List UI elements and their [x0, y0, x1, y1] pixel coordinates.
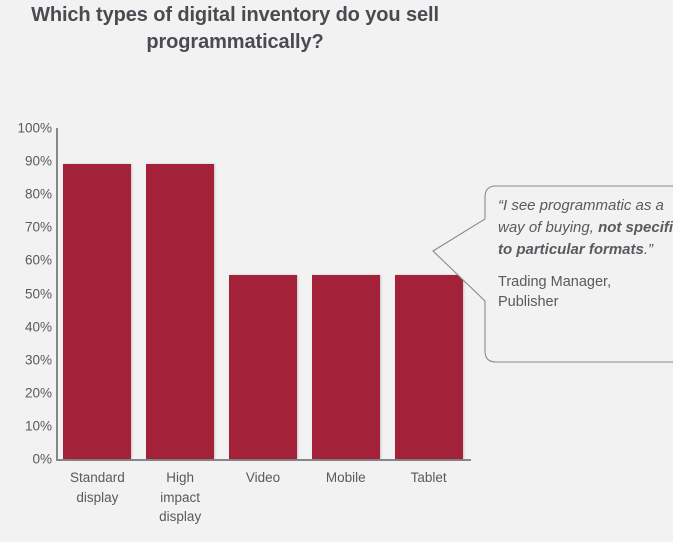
bar-high-impact-display[interactable]	[146, 164, 214, 459]
x-axis-category-labels: StandarddisplayHighimpactdisplayVideoMob…	[56, 468, 471, 542]
x-axis-label-high-impact-display: Highimpactdisplay	[138, 468, 222, 527]
y-axis-tick-label: 40%	[4, 319, 52, 334]
plot-area	[56, 128, 470, 459]
y-axis-tick-label: 100%	[4, 121, 52, 136]
quote-attribution: Trading Manager, Publisher	[498, 272, 673, 313]
y-axis-tick-label: 0%	[4, 452, 52, 467]
x-axis-label-line: Standard	[55, 468, 139, 488]
attribution-line-1: Trading Manager,	[498, 272, 673, 293]
attribution-line-2: Publisher	[498, 292, 673, 313]
y-axis-tick-label: 60%	[4, 253, 52, 268]
x-axis-label-line: High	[138, 468, 222, 488]
bar-video[interactable]	[229, 275, 297, 459]
x-axis-line	[56, 459, 471, 461]
x-axis-label-tablet: Tablet	[387, 468, 471, 488]
x-axis-label-mobile: Mobile	[304, 468, 388, 488]
x-axis-label-line: display	[55, 488, 139, 508]
x-axis-label-video: Video	[221, 468, 305, 488]
y-axis-tick-label: 90%	[4, 154, 52, 169]
x-axis-label-line: display	[138, 507, 222, 527]
x-axis-label-standard-display: Standarddisplay	[55, 468, 139, 507]
chevron-right-icon: ›	[0, 303, 9, 329]
x-axis-label-line: Tablet	[387, 468, 471, 488]
bar-mobile[interactable]	[312, 275, 380, 459]
y-axis-tick-label: 10%	[4, 418, 52, 433]
bar-standard-display[interactable]	[63, 164, 131, 459]
y-axis-tick-label: 70%	[4, 220, 52, 235]
x-axis-label-line: Video	[221, 468, 305, 488]
x-axis-label-line: impact	[138, 488, 222, 508]
y-axis-tick-label: 30%	[4, 352, 52, 367]
quote-part-2: .”	[644, 241, 653, 258]
quote-callout: “I see programmatic as a way of buying, …	[430, 183, 673, 371]
quote-text: “I see programmatic as a way of buying, …	[498, 195, 673, 261]
y-axis-tick-label: 50%	[4, 286, 52, 301]
callout-text-block: “I see programmatic as a way of buying, …	[498, 195, 673, 313]
y-axis-tick-label: 20%	[4, 385, 52, 400]
y-axis-tick-labels: 100%90%80%70%60%50%40%30%20%10%0%	[0, 128, 52, 459]
x-axis-label-line: Mobile	[304, 468, 388, 488]
y-axis-tick-label: 80%	[4, 187, 52, 202]
